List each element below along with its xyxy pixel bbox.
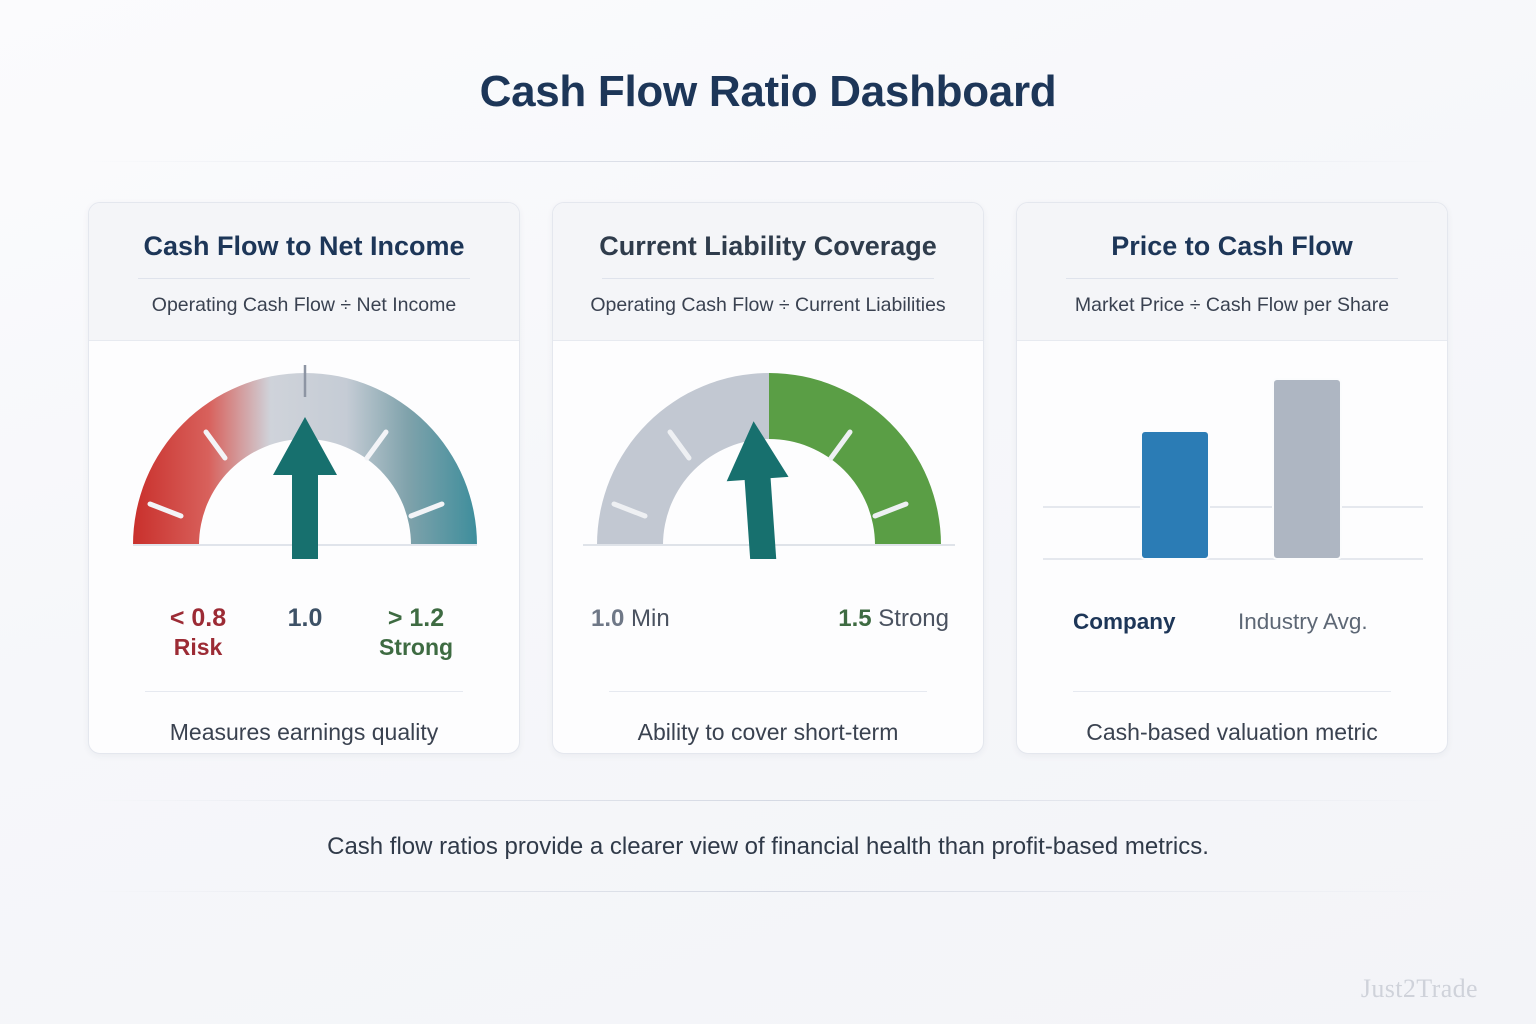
card-header: Cash Flow to Net Income Operating Cash F… <box>89 203 519 340</box>
card-note-divider <box>609 691 927 692</box>
scale-high-value: 1.5 <box>838 605 871 632</box>
card-header-divider <box>138 278 470 279</box>
scale-low: 1.0 Min <box>591 605 670 633</box>
scale-high-label: Strong <box>878 605 949 632</box>
card-note: Measures earnings quality <box>105 714 503 755</box>
card-header: Current Liability Coverage Operating Cas… <box>553 203 983 340</box>
footer-divider-top <box>88 800 1448 801</box>
card-title: Cash Flow to Net Income <box>111 231 497 262</box>
card-note: Ability to cover short-term obligations <box>569 714 967 755</box>
gauge-scale-labels: 1.0 Min 1.5 Strong <box>569 603 967 691</box>
legend-industry-avg: Industry Avg. <box>1238 609 1368 635</box>
card-formula: Operating Cash Flow ÷ Current Liabilitie… <box>575 294 961 317</box>
scale-low-label: Risk <box>123 633 273 661</box>
card-body: < 0.8 Risk 1.0 > 1.2 Strong Measures ear… <box>89 341 519 755</box>
scale-high-value: > 1.2 <box>388 604 444 632</box>
scale-low-label: Min <box>631 605 670 632</box>
bar-chart-legend: Company Industry Avg. <box>1033 603 1431 691</box>
card-cash-flow-to-net-income[interactable]: Cash Flow to Net Income Operating Cash F… <box>88 202 520 754</box>
gauge-gradient-chart <box>105 359 503 609</box>
bar-chart <box>1033 359 1431 609</box>
card-formula: Market Price ÷ Cash Flow per Share <box>1039 294 1425 317</box>
footer-summary: Cash flow ratios provide a clearer view … <box>0 833 1536 861</box>
card-note: Cash-based valuation metric <box>1033 714 1431 755</box>
scale-high-label: Strong <box>341 633 491 661</box>
card-title: Current Liability Coverage <box>575 231 961 262</box>
scale-high: > 1.2 Strong <box>341 603 491 662</box>
bar-company <box>1141 431 1209 559</box>
card-header-divider <box>1066 278 1398 279</box>
title-divider <box>88 161 1448 162</box>
watermark: Just2Trade <box>1361 974 1478 1004</box>
bar-industry-avg <box>1273 379 1341 559</box>
card-note-divider <box>1073 691 1391 692</box>
card-body: 1.0 Min 1.5 Strong Ability to cover shor… <box>553 341 983 755</box>
card-body: Company Industry Avg. Cash-based valuati… <box>1017 341 1447 755</box>
card-title: Price to Cash Flow <box>1039 231 1425 262</box>
scale-low-value: < 0.8 <box>170 604 226 632</box>
card-formula: Operating Cash Flow ÷ Net Income <box>111 294 497 317</box>
card-current-liability-coverage[interactable]: Current Liability Coverage Operating Cas… <box>552 202 984 754</box>
scale-low-value: 1.0 <box>591 605 624 632</box>
bar-chart-svg <box>1033 359 1433 571</box>
card-note-divider <box>145 691 463 692</box>
footer-divider-bottom <box>88 891 1448 892</box>
gauge-split-chart <box>569 359 967 609</box>
legend-company: Company <box>1073 609 1176 635</box>
metric-cards-row: Cash Flow to Net Income Operating Cash F… <box>0 202 1536 754</box>
card-price-to-cash-flow[interactable]: Price to Cash Flow Market Price ÷ Cash F… <box>1016 202 1448 754</box>
card-header: Price to Cash Flow Market Price ÷ Cash F… <box>1017 203 1447 340</box>
page-title: Cash Flow Ratio Dashboard <box>0 0 1536 116</box>
card-header-divider <box>602 278 934 279</box>
gauge-svg <box>105 359 505 559</box>
gauge-svg <box>569 359 969 559</box>
scale-high: 1.5 Strong <box>838 605 949 633</box>
scale-mid-value: 1.0 <box>288 604 323 632</box>
gauge-scale-labels: < 0.8 Risk 1.0 > 1.2 Strong <box>105 603 503 691</box>
gauge-arc-green <box>769 373 941 545</box>
